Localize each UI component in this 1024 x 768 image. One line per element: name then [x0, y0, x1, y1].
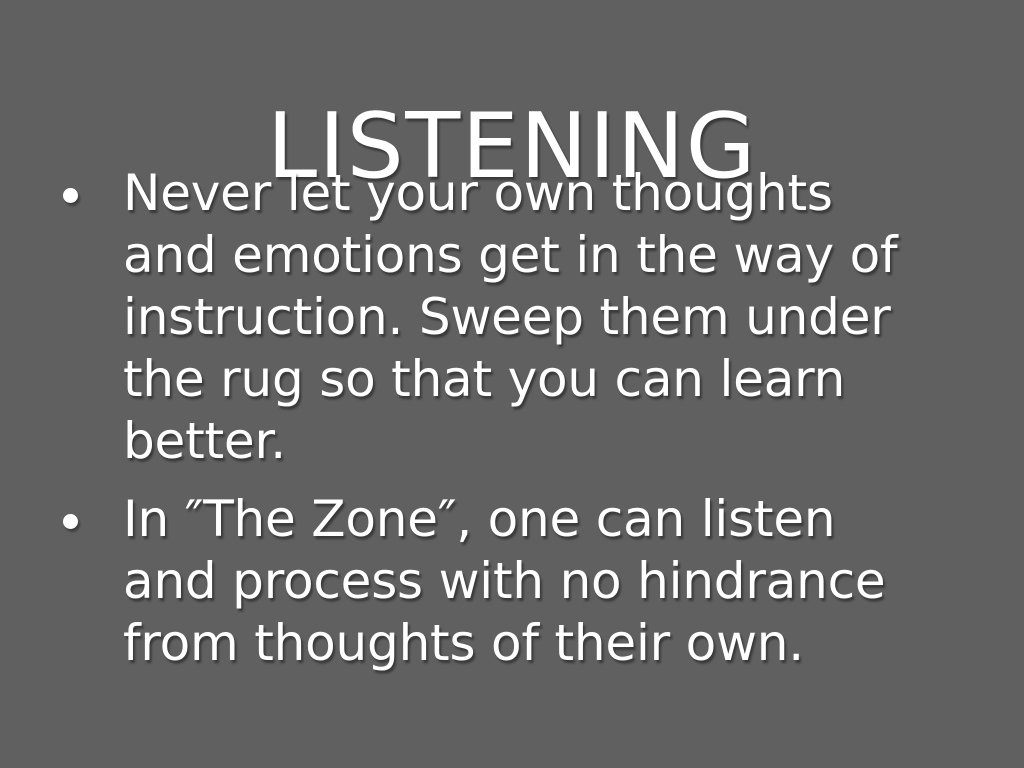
bullet-text: In ″The Zone″, one can listen and proces…	[123, 488, 916, 674]
list-item: Never let your own thoughts and emotions…	[56, 162, 916, 472]
list-item: In ″The Zone″, one can listen and proces…	[56, 488, 916, 674]
bullet-text: Never let your own thoughts and emotions…	[123, 162, 916, 472]
bullet-point-icon	[63, 188, 78, 203]
bullet-point-icon	[63, 514, 78, 529]
presentation-slide: LISTENING Never let your own thoughts an…	[0, 0, 1024, 768]
slide-bullet-list: Never let your own thoughts and emotions…	[56, 162, 916, 674]
